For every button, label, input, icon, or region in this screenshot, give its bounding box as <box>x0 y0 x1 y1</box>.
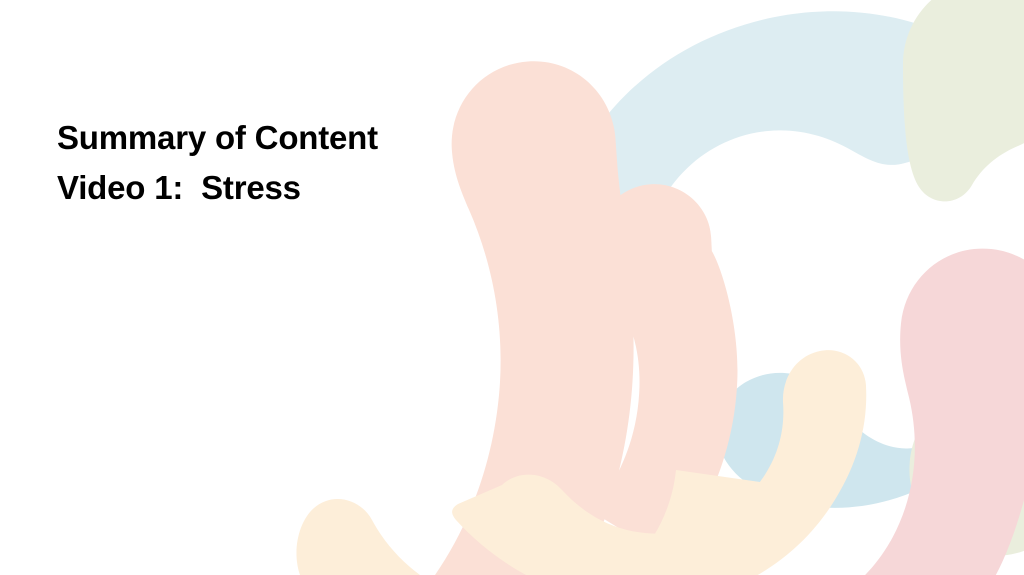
presentation-slide: Summary of Content Video 1: Stress Te Ak… <box>0 0 1024 575</box>
title-line-1: Summary of Content <box>57 113 527 163</box>
decor-arc-blue-outer <box>556 11 1000 300</box>
page-title: Summary of Content Video 1: Stress <box>57 113 527 213</box>
title-line-2: Video 1: Stress <box>57 163 527 213</box>
slide-footer: Te Ako Manaaki: Managed Moves In partner… <box>0 386 1024 491</box>
decor-arc-peach-inner <box>575 180 747 563</box>
decor-blob-green-top <box>903 0 1024 201</box>
